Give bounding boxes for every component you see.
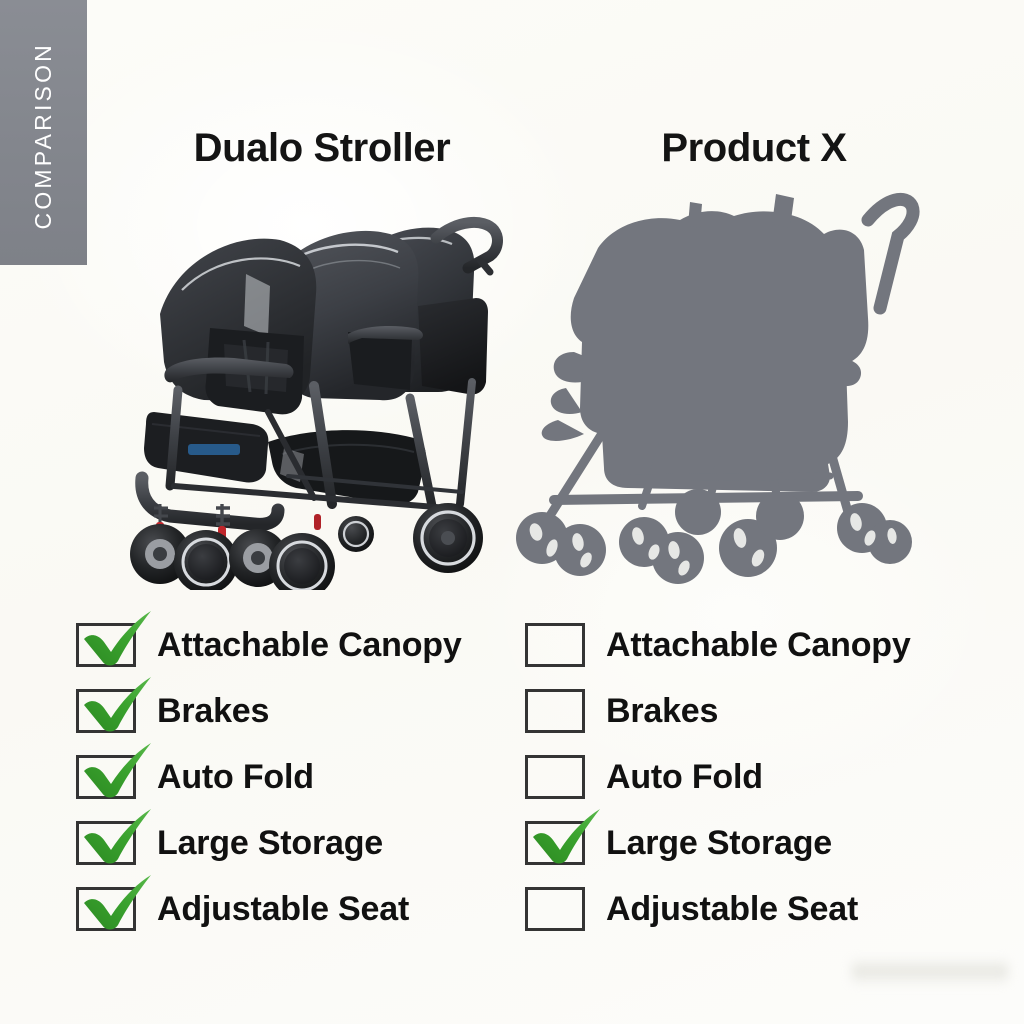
feature-label: Large Storage	[157, 826, 383, 860]
feature-row[interactable]: Adjustable Seat	[525, 876, 965, 942]
checkbox-box	[76, 755, 136, 799]
feature-label: Auto Fold	[157, 760, 314, 794]
feature-label: Attachable Canopy	[157, 628, 462, 662]
checkbox-box	[525, 887, 585, 931]
feature-row[interactable]: Attachable Canopy	[76, 612, 516, 678]
feature-label: Adjustable Seat	[606, 892, 858, 926]
checkbox-box	[525, 821, 585, 865]
feature-row[interactable]: Large Storage	[76, 810, 516, 876]
checkbox-large-storage-left[interactable]	[76, 821, 136, 865]
feature-comparison-checklist: Attachable Canopy Brakes	[0, 612, 1024, 962]
feature-row[interactable]: Auto Fold	[525, 744, 965, 810]
feature-row[interactable]: Attachable Canopy	[525, 612, 965, 678]
checkbox-box	[76, 821, 136, 865]
checkbox-box	[525, 755, 585, 799]
feature-row[interactable]: Brakes	[525, 678, 965, 744]
feature-column-product-x: Attachable Canopy Brakes Auto Fold	[525, 612, 965, 942]
checkbox-box	[76, 623, 136, 667]
feature-label: Brakes	[606, 694, 718, 728]
checkbox-auto-fold-left[interactable]	[76, 755, 136, 799]
checkbox-attachable-canopy-left[interactable]	[76, 623, 136, 667]
checkbox-box	[76, 689, 136, 733]
checkbox-adjustable-seat-right[interactable]	[525, 887, 585, 931]
product-heading-left: Dualo Stroller	[122, 126, 522, 171]
dualo-stroller-photo	[118, 186, 510, 590]
comparison-infographic: COMPARISON Dualo Stroller Product X	[0, 0, 1024, 1024]
feature-row[interactable]: Brakes	[76, 678, 516, 744]
product-x-silhouette	[512, 176, 924, 590]
checkbox-box	[525, 623, 585, 667]
feature-row[interactable]: Auto Fold	[76, 744, 516, 810]
checkbox-attachable-canopy-right[interactable]	[525, 623, 585, 667]
feature-label: Large Storage	[606, 826, 832, 860]
product-heading-right: Product X	[554, 126, 954, 171]
checkbox-brakes-right[interactable]	[525, 689, 585, 733]
checkbox-box	[525, 689, 585, 733]
comparison-banner: COMPARISON	[0, 0, 87, 265]
watermark-artifact	[852, 958, 1008, 986]
checkbox-auto-fold-right[interactable]	[525, 755, 585, 799]
feature-row[interactable]: Large Storage	[525, 810, 965, 876]
checkbox-brakes-left[interactable]	[76, 689, 136, 733]
feature-label: Brakes	[157, 694, 269, 728]
feature-label: Auto Fold	[606, 760, 763, 794]
feature-label: Adjustable Seat	[157, 892, 409, 926]
feature-row[interactable]: Adjustable Seat	[76, 876, 516, 942]
comparison-banner-label: COMPARISON	[32, 36, 55, 229]
feature-label: Attachable Canopy	[606, 628, 911, 662]
feature-column-dualo-stroller: Attachable Canopy Brakes	[76, 612, 516, 942]
checkbox-box	[76, 887, 136, 931]
checkbox-large-storage-right[interactable]	[525, 821, 585, 865]
checkbox-adjustable-seat-left[interactable]	[76, 887, 136, 931]
